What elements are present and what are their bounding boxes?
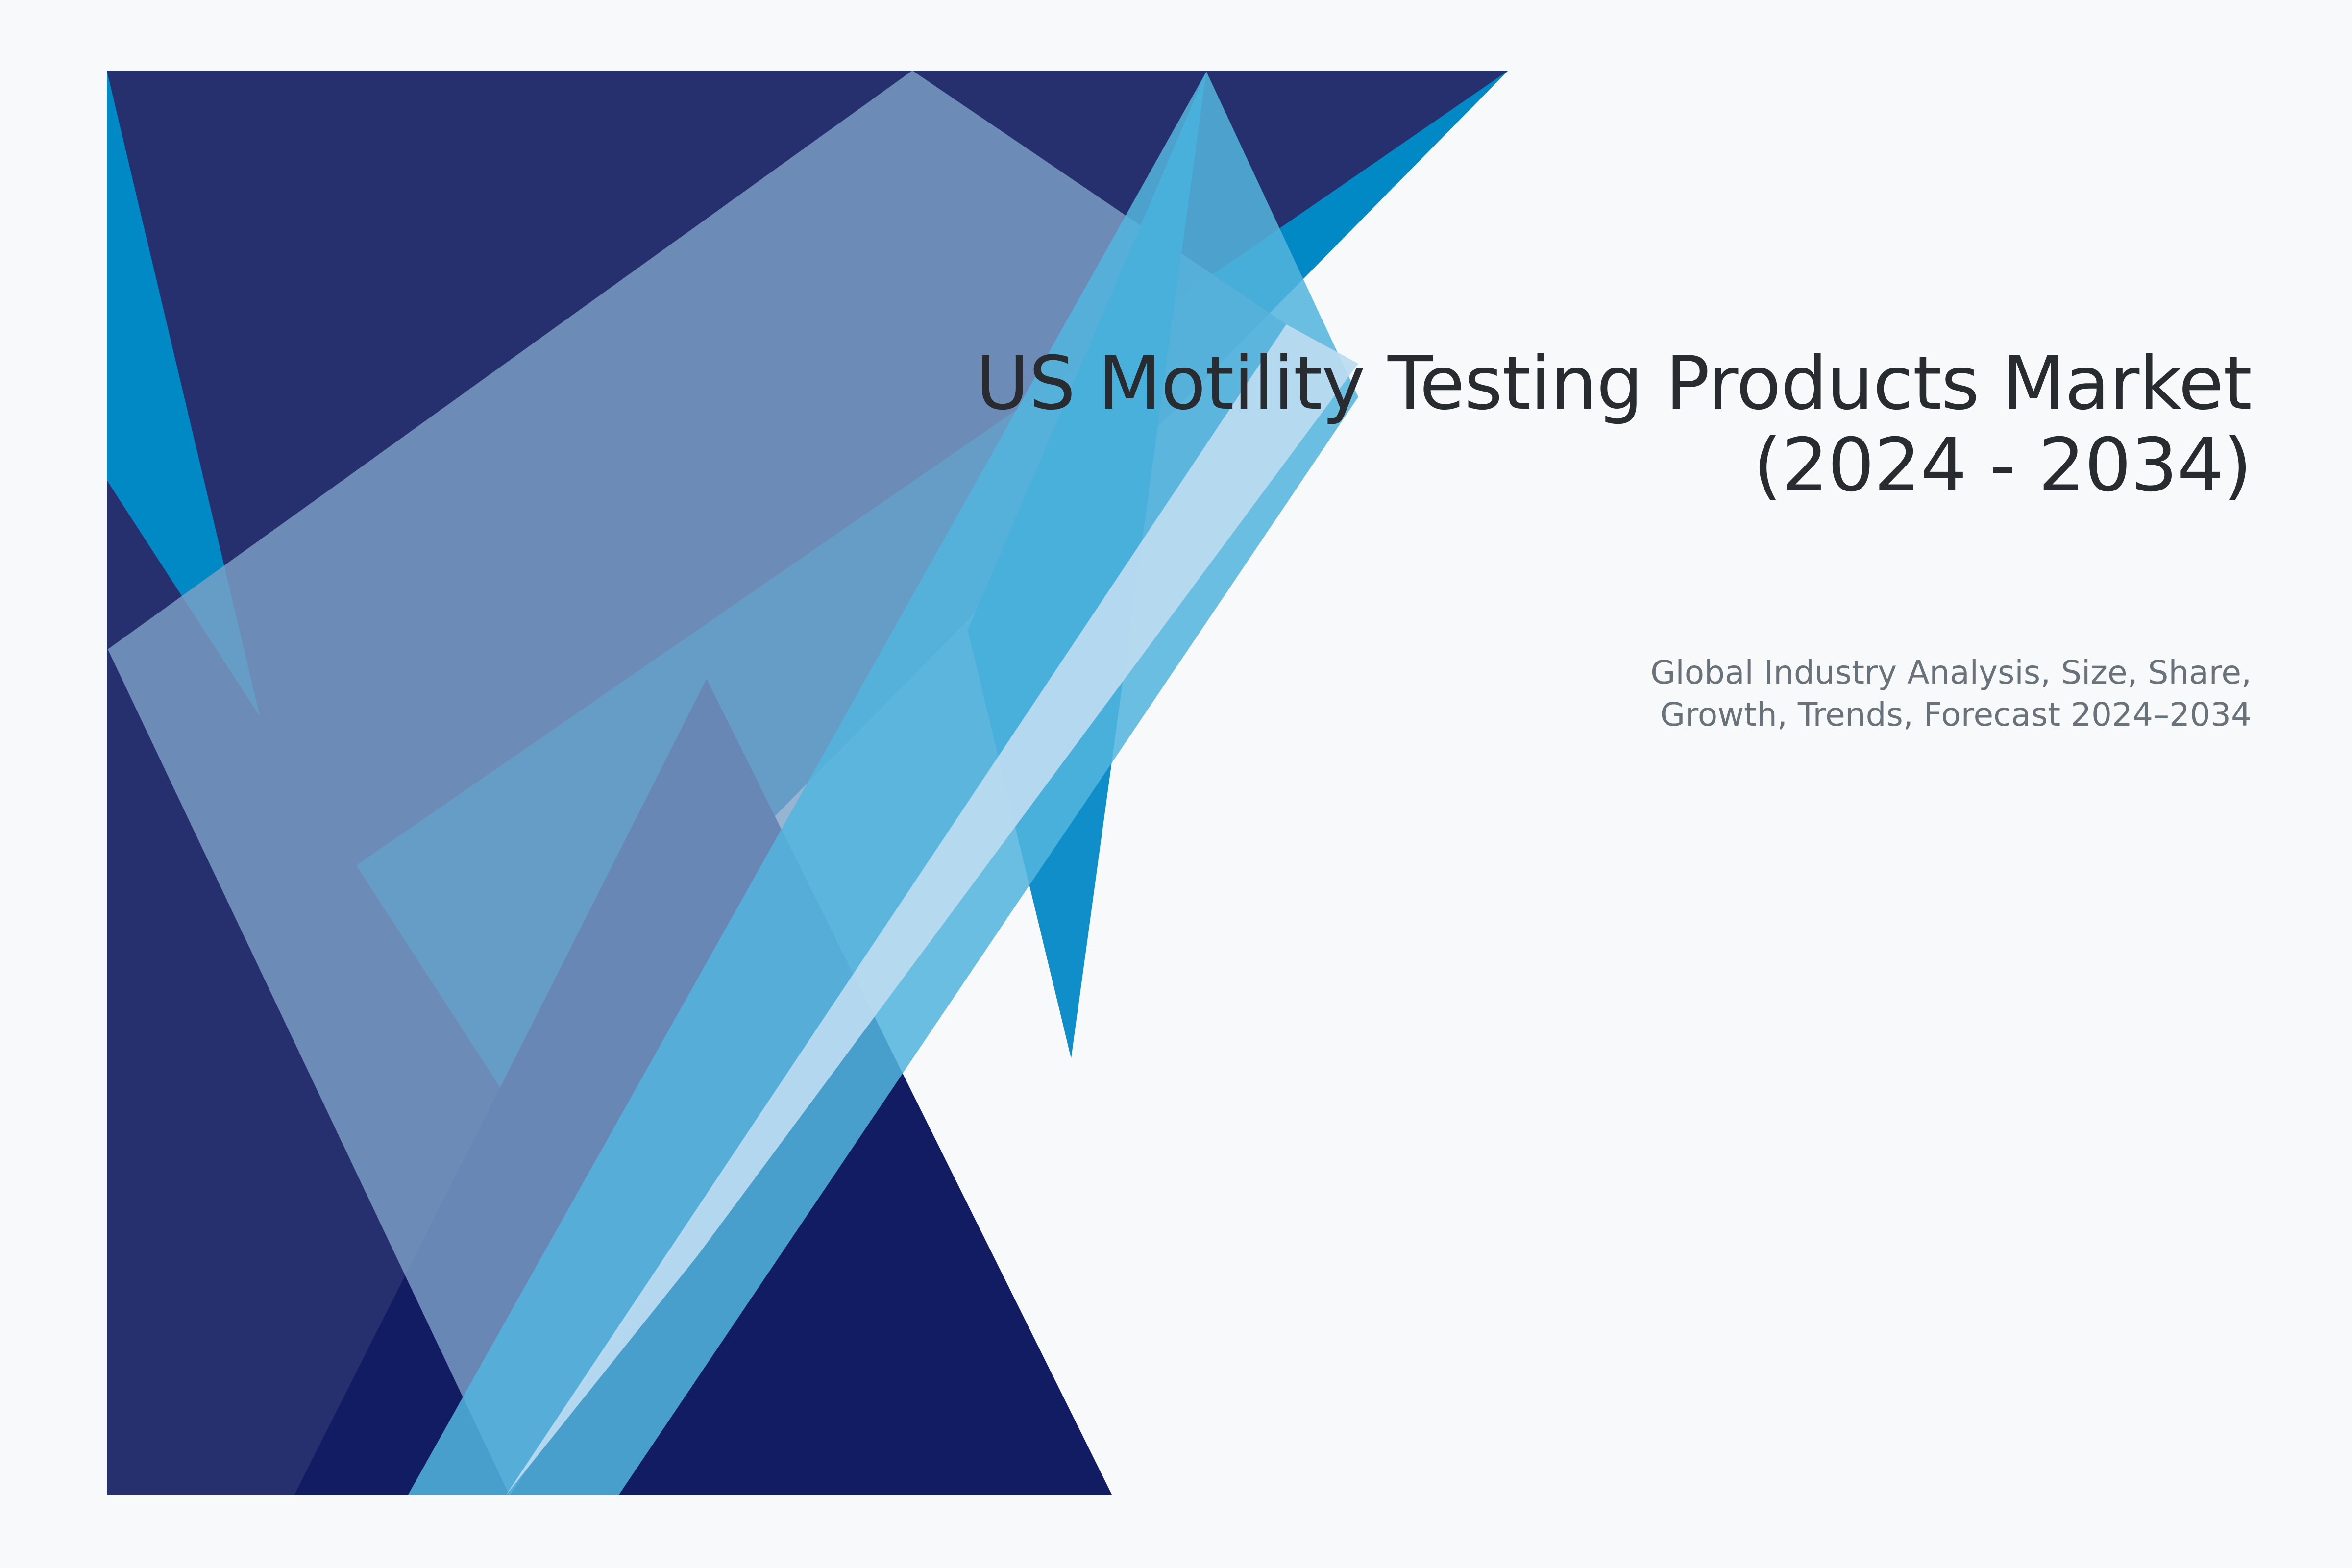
artwork-bottom-clip — [0, 1495, 2352, 1568]
artwork-shapes — [0, 0, 2352, 1568]
report-cover: US Motility Testing Products Market (202… — [0, 0, 2352, 1568]
abstract-geometric-artwork — [0, 0, 2352, 1568]
page-title: US Motility Testing Products Market (202… — [735, 343, 2252, 507]
artwork-top-clip — [0, 0, 2352, 71]
cover-text-block: US Motility Testing Products Market (202… — [735, 343, 2252, 507]
page-subtitle: Global Industry Analysis, Size, Share, G… — [735, 652, 2252, 736]
artwork-left-clip — [0, 0, 107, 1568]
